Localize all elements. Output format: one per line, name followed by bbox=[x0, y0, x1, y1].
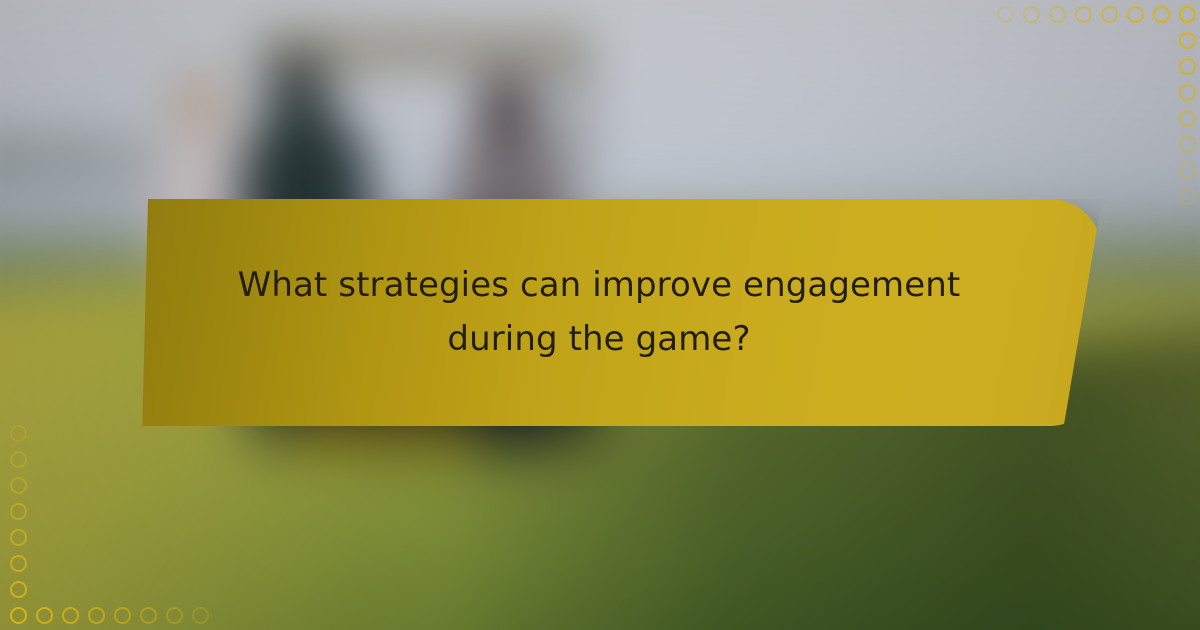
background-tree bbox=[108, 143, 146, 175]
social-card-canvas: What strategies can improve engagement d… bbox=[0, 0, 1200, 630]
passenger-head bbox=[270, 58, 330, 120]
passenger-head bbox=[478, 74, 536, 138]
background-tree bbox=[44, 138, 90, 178]
passenger-head bbox=[172, 72, 228, 132]
question-text: What strategies can improve engagement d… bbox=[219, 259, 979, 366]
question-card: What strategies can improve engagement d… bbox=[96, 199, 1102, 426]
golf-cart-post bbox=[570, 52, 582, 182]
question-card-content: What strategies can improve engagement d… bbox=[219, 259, 979, 366]
